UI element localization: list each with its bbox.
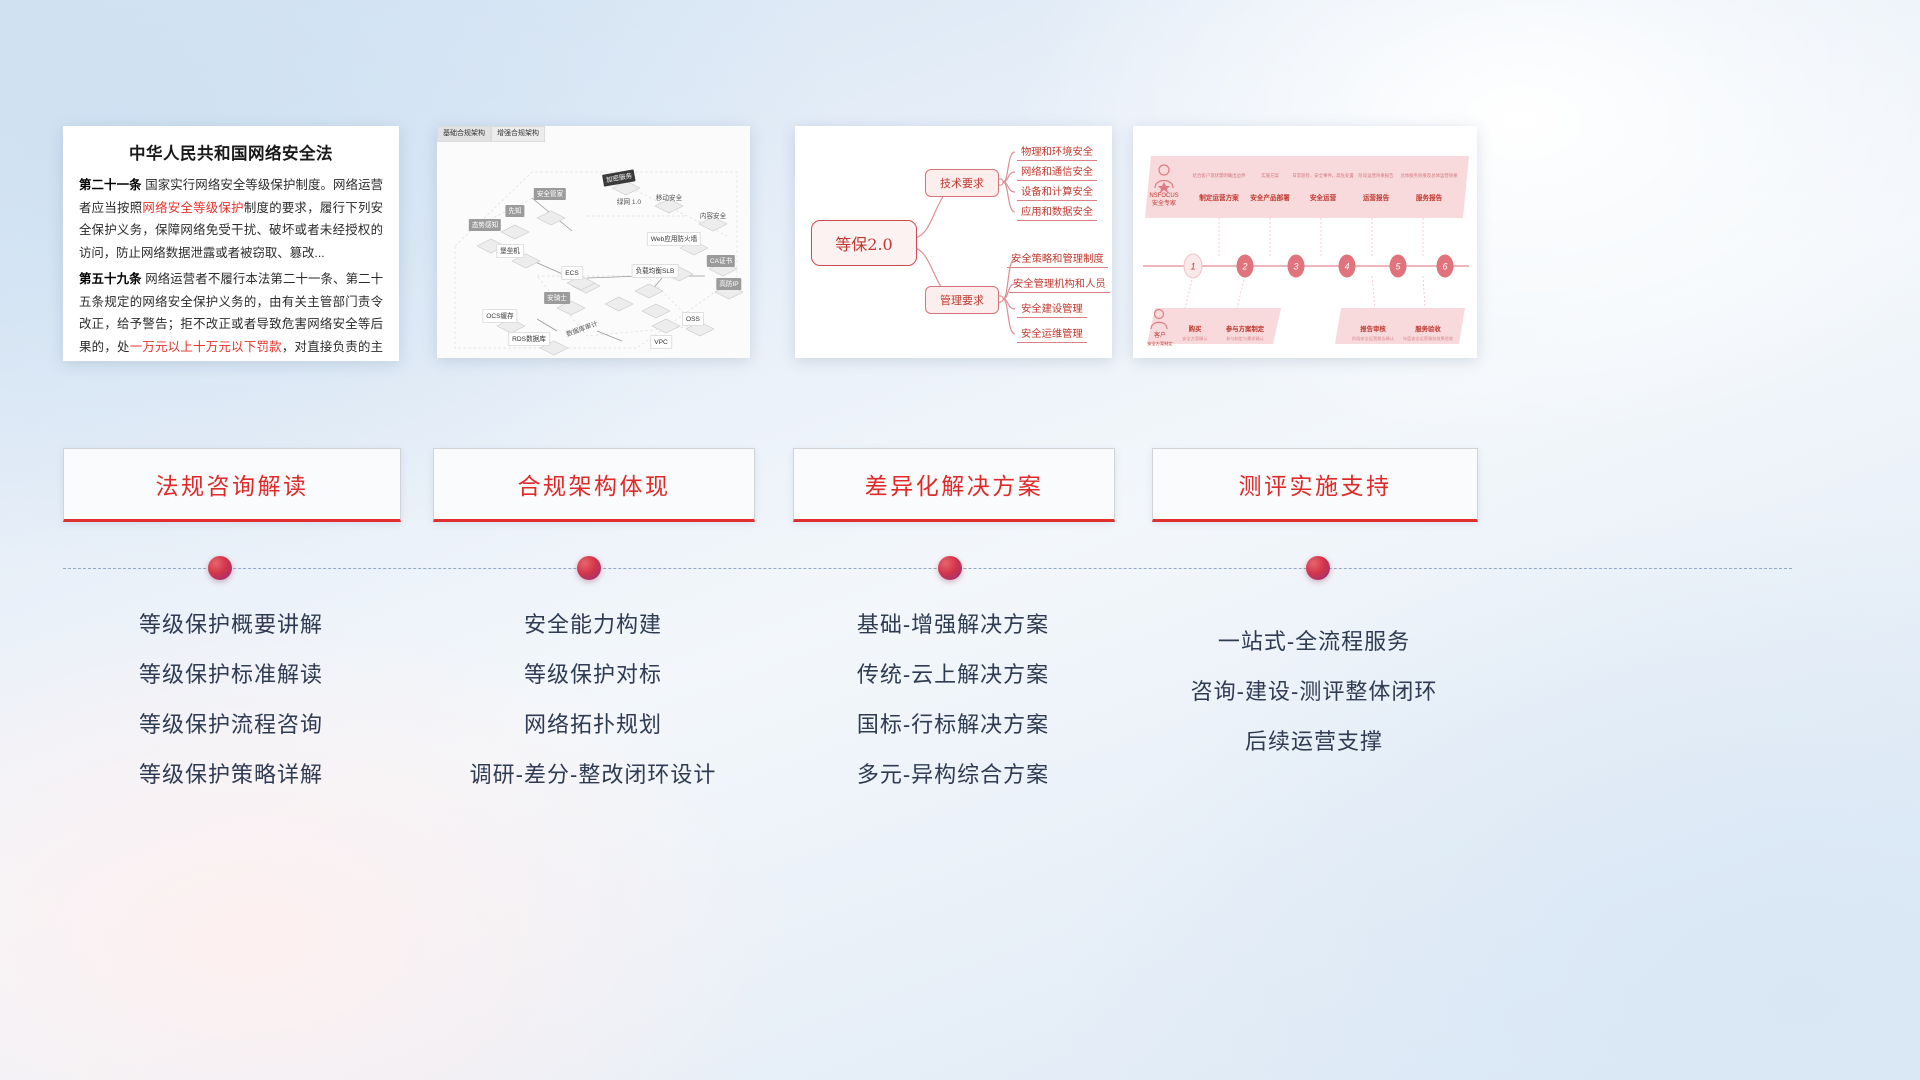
node-content-security: 内容安全 xyxy=(697,210,729,222)
card-mindmap: 等保2.0 技术要求 管理要求 物理和环境安全 网络和通信安全 设备和计算安全 … xyxy=(795,126,1112,358)
bullet-column-1: 等级保护概要讲解 等级保护标准解读 等级保护流程咨询 等级保护策略详解 xyxy=(63,600,399,800)
stage-label-2: 安全产品部署 xyxy=(1250,192,1290,202)
illustration-cards: 中华人民共和国网络安全法 第二十一条 国家实行网络安全等级保护制度。网络运营者应… xyxy=(0,124,1920,364)
connector-timeline xyxy=(0,540,1920,600)
pillar-label-4: 测评实施支持 xyxy=(1239,467,1392,501)
customer-label: 客户 xyxy=(1147,332,1172,340)
law-article-21: 第二十一条 国家实行网络安全等级保护制度。网络运营者应当按照网络安全等级保护制度… xyxy=(79,174,383,264)
stage-sub-4: 阶段运营效果报告 xyxy=(1358,173,1393,179)
node-ocs-cache: OCS缓存 xyxy=(482,309,517,323)
law-body: 中华人民共和国网络安全法 第二十一条 国家实行网络安全等级保护制度。网络运营者应… xyxy=(63,126,399,361)
mindmap-leaf-security-policy: 安全策略和管理制度 xyxy=(1007,250,1108,268)
pillar-assessment-support[interactable]: 测评实施支持 xyxy=(1152,448,1478,522)
bullet-item: 后续运营支撑 xyxy=(1152,717,1476,767)
bottom-label-service-acceptance: 服务验收 xyxy=(1415,324,1441,333)
bottom-label-report-review: 报告审核 xyxy=(1360,324,1386,333)
card-architecture-diagram: 基础合规架构 增强合规架构 xyxy=(437,126,750,358)
card-law-text: 中华人民共和国网络安全法 第二十一条 国家实行网络安全等级保护制度。网络运营者应… xyxy=(63,126,399,361)
stage-label-3: 安全运营 xyxy=(1310,192,1336,202)
stage-sub-2: 实施方案 xyxy=(1261,173,1279,179)
stage-label-1: 制定运营方案 xyxy=(1199,192,1239,202)
pillar-label-2: 合规架构体现 xyxy=(518,467,671,501)
node-slb: 负载均衡SLB xyxy=(632,264,679,278)
node-security-butler: 安全管家 xyxy=(534,188,566,200)
pillar-label-3: 差异化解决方案 xyxy=(865,467,1044,501)
timeline-step-4: 4 xyxy=(1339,255,1356,278)
mindmap-root-node: 等保2.0 xyxy=(811,220,917,266)
bullet-item: 安全能力构建 xyxy=(433,600,753,650)
node-ecs: ECS xyxy=(561,266,583,280)
article-59-highlight-1: 一万元以上十万元以下罚款 xyxy=(130,340,282,354)
bullet-column-2: 安全能力构建 等级保护对标 网络拓扑规划 调研-差分-整改闭环设计 xyxy=(433,600,753,800)
bullet-item: 等级保护对标 xyxy=(433,650,753,700)
node-xianzhi: 先知 xyxy=(505,205,524,217)
node-anti-ddos-ip: 高防IP xyxy=(716,278,741,290)
mindmap-leaf-construction-management: 安全建设管理 xyxy=(1017,300,1087,318)
bullet-item: 传统-云上解决方案 xyxy=(793,650,1113,700)
node-greennet: 绿网 1.0 xyxy=(614,196,644,208)
bullet-item: 等级保护标准解读 xyxy=(63,650,399,700)
service-brand-block: NSFOCUS 安全专家 xyxy=(1149,192,1178,208)
stage-label-4: 运营报告 xyxy=(1363,192,1389,202)
bullet-column-3: 基础-增强解决方案 传统-云上解决方案 国标-行标解决方案 多元-异构综合方案 xyxy=(793,600,1113,800)
mindmap-leaf-device-computing: 设备和计算安全 xyxy=(1017,183,1097,201)
bullet-item: 多元-异构综合方案 xyxy=(793,750,1113,800)
node-oss: OSS xyxy=(682,312,704,326)
mindmap-leaf-network-communication: 网络和通信安全 xyxy=(1017,163,1097,181)
pillar-label-1: 法规咨询解读 xyxy=(156,467,309,501)
bullet-item: 一站式-全流程服务 xyxy=(1152,617,1476,667)
mindmap-branch-management: 管理要求 xyxy=(925,286,999,314)
bullet-item: 网络拓扑规划 xyxy=(433,700,753,750)
timeline-node-3 xyxy=(938,556,962,580)
timeline-dashed-line xyxy=(63,568,1792,569)
node-anqishi: 安骑士 xyxy=(544,292,570,304)
timeline-node-1 xyxy=(208,556,232,580)
bottom-label-purchase: 购买 xyxy=(1189,324,1202,333)
bottom-sub-service-acceptance: 年度安全运营服务效果验收 xyxy=(1403,336,1453,342)
stage-sub-3: 日常巡检、安全事件、高危处置 xyxy=(1292,173,1353,179)
poster-stage: 中华人民共和国网络安全法 第二十一条 国家实行网络安全等级保护制度。网络运营者应… xyxy=(0,0,1920,1080)
brand-subtitle: 安全专家 xyxy=(1149,200,1178,208)
node-bastion-host: 堡垒机 xyxy=(496,244,524,258)
bullet-item: 国标-行标解决方案 xyxy=(793,700,1113,750)
bullet-item: 咨询-建设-测评整体闭环 xyxy=(1152,667,1476,717)
brand-name: NSFOCUS xyxy=(1149,192,1178,200)
mindmap-branch-technical: 技术要求 xyxy=(925,169,999,197)
architecture-canvas: 基础合规架构 增强合规架构 xyxy=(437,126,750,358)
mindmap-leaf-physical-environment: 物理和环境安全 xyxy=(1017,143,1097,161)
timeline-step-1: 1 xyxy=(1184,254,1203,279)
bottom-sub-report-review: 阶段安全运营报告确认 xyxy=(1352,336,1394,342)
customer-sub: 安全方案制定 xyxy=(1147,340,1172,348)
pillar-row: 法规咨询解读 合规架构体现 差异化解决方案 测评实施支持 xyxy=(0,448,1920,520)
tab-basic-compliance[interactable]: 基础合规架构 xyxy=(437,126,491,142)
node-vpc: VPC xyxy=(650,335,672,349)
node-ca-certificate: CA证书 xyxy=(707,255,735,267)
law-article-59: 第五十九条 网络运营者不履行本法第二十一条、第二十五条规定的网络安全保护义务的，… xyxy=(79,268,383,361)
article-21-highlight: 网络安全等级保护 xyxy=(142,201,243,215)
bottom-sub-purchase: 安全方案确认 xyxy=(1182,336,1207,342)
stage-label-5: 服务报告 xyxy=(1416,192,1442,202)
architecture-tabs: 基础合规架构 增强合规架构 xyxy=(437,126,545,142)
pillar-differentiated-solution[interactable]: 差异化解决方案 xyxy=(793,448,1115,522)
bullet-column-4: 一站式-全流程服务 咨询-建设-测评整体闭环 后续运营支撑 xyxy=(1152,600,1476,767)
node-situational-awareness: 态势感知 xyxy=(469,219,501,231)
stage-sub-5: 总体服务效果及总体运营效果 xyxy=(1400,173,1457,179)
mindmap-leaf-application-data: 应用和数据安全 xyxy=(1017,203,1097,221)
bottom-sub-plan-participation: 参与制定与需求确认 xyxy=(1226,336,1264,342)
bullet-item: 等级保护概要讲解 xyxy=(63,600,399,650)
timeline-node-2 xyxy=(577,556,601,580)
timeline-step-2: 2 xyxy=(1237,255,1254,278)
bullet-item: 等级保护流程咨询 xyxy=(63,700,399,750)
mindmap-leaf-ops-management: 安全运维管理 xyxy=(1017,325,1087,343)
bullet-item: 调研-差分-整改闭环设计 xyxy=(433,750,753,800)
timeline-step-6: 6 xyxy=(1437,255,1454,278)
pillar-compliance-architecture[interactable]: 合规架构体现 xyxy=(433,448,755,522)
stage-sub-1: 结合客户现状需明确出边界 xyxy=(1193,173,1246,179)
bottom-label-plan-participation: 参与方案制定 xyxy=(1226,324,1264,333)
law-title: 中华人民共和国网络安全法 xyxy=(79,140,383,164)
customer-block: 客户 安全方案制定 xyxy=(1147,332,1172,348)
tab-enhanced-compliance[interactable]: 增强合规架构 xyxy=(491,126,545,142)
mindmap-canvas: 等保2.0 技术要求 管理要求 物理和环境安全 网络和通信安全 设备和计算安全 … xyxy=(795,126,1112,358)
article-21-label: 第二十一条 xyxy=(79,178,142,192)
card-service-timeline: NSFOCUS 安全专家 结合客户现状需明确出边界 制定运营方案 实施方案 安全… xyxy=(1133,126,1477,358)
bullet-item: 基础-增强解决方案 xyxy=(793,600,1113,650)
pillar-regulatory-consulting[interactable]: 法规咨询解读 xyxy=(63,448,401,522)
timeline-step-3: 3 xyxy=(1288,255,1305,278)
article-59-label: 第五十九条 xyxy=(79,272,142,286)
node-waf: Web应用防火墙 xyxy=(647,232,701,246)
timeline-step-5: 5 xyxy=(1390,255,1407,278)
bullet-columns: 等级保护概要讲解 等级保护标准解读 等级保护流程咨询 等级保护策略详解 安全能力… xyxy=(0,600,1920,840)
service-canvas: NSFOCUS 安全专家 结合客户现状需明确出边界 制定运营方案 实施方案 安全… xyxy=(1133,126,1477,358)
mindmap-leaf-org-personnel: 安全管理机构和人员 xyxy=(1009,275,1110,293)
node-rds-database: RDS数据库 xyxy=(508,332,550,346)
timeline-node-4 xyxy=(1306,556,1330,580)
bullet-item: 等级保护策略详解 xyxy=(63,750,399,800)
node-mobile-security: 移动安全 xyxy=(653,192,685,204)
